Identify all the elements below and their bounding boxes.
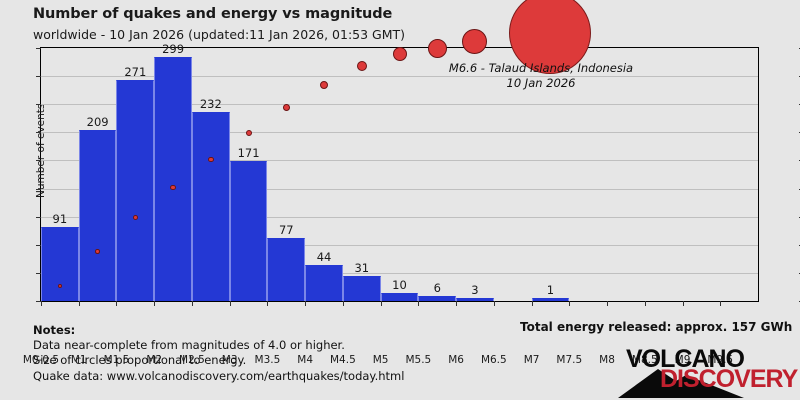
y-axis-tick-left	[36, 76, 41, 77]
bar[interactable]	[192, 112, 230, 301]
x-axis-tick	[456, 301, 457, 306]
logo-word-discovery: DISCOVERY	[660, 365, 797, 394]
energy-circle[interactable]	[462, 29, 487, 54]
energy-circle[interactable]	[246, 130, 252, 136]
y-axis-tick-left	[36, 189, 41, 190]
notes-heading: Notes:	[33, 323, 404, 338]
annotation-line-1: M6.6 - Talaud Islands, Indonesia	[401, 61, 681, 76]
annotation-line-2: 10 Jan 2026	[401, 76, 681, 91]
x-axis-tick	[607, 301, 608, 306]
x-axis-tick	[381, 301, 382, 306]
bar[interactable]	[116, 80, 154, 301]
x-axis-tick	[645, 301, 646, 306]
energy-circle[interactable]	[208, 157, 214, 163]
bar-value-label: 1	[524, 283, 578, 297]
notes-block: Notes: Data near-complete from magnitude…	[33, 323, 404, 384]
y-axis-tick-left	[36, 132, 41, 133]
bar-value-label: 232	[184, 97, 238, 111]
bar-value-label: 77	[259, 223, 313, 237]
energy-circle[interactable]	[357, 61, 367, 71]
energy-circle[interactable]	[58, 284, 62, 288]
x-axis-tick	[305, 301, 306, 306]
chart-title: Number of quakes and energy vs magnitude	[33, 6, 392, 22]
bar[interactable]	[79, 130, 117, 301]
x-axis-tick	[418, 301, 419, 306]
x-axis-tick	[192, 301, 193, 306]
total-energy-label: Total energy released: approx. 157 GWh	[520, 320, 792, 334]
plot-area: Number of events 1 TWh100 GWh10 GWh1 GWh…	[40, 47, 759, 302]
notes-line-2: Size of circles proportional to energy.	[33, 353, 404, 368]
bar[interactable]	[267, 238, 305, 301]
x-axis-tick	[683, 301, 684, 306]
energy-circle[interactable]	[393, 47, 407, 61]
y-axis-tick-left	[36, 48, 41, 49]
bar[interactable]	[41, 227, 79, 301]
bar-value-label: 299	[146, 42, 200, 56]
x-axis-tick	[569, 301, 570, 306]
bar-value-label: 171	[222, 146, 276, 160]
x-axis-tick	[267, 301, 268, 306]
bar-value-label: 3	[448, 283, 502, 297]
x-axis-tick	[154, 301, 155, 306]
x-axis-tick	[116, 301, 117, 306]
energy-circle[interactable]	[320, 81, 328, 89]
y-axis-tick-left	[36, 160, 41, 161]
bar[interactable]	[532, 298, 570, 301]
notes-line-1: Data near-complete from magnitudes of 4.…	[33, 338, 404, 353]
x-axis-tick	[532, 301, 533, 306]
notes-line-3[interactable]: Quake data: www.volcanodiscovery.com/ear…	[33, 369, 404, 384]
big-quake-annotation: M6.6 - Talaud Islands, Indonesia10 Jan 2…	[401, 61, 681, 91]
energy-circle[interactable]	[170, 185, 175, 190]
y-axis-title: Number of events	[35, 104, 47, 198]
energy-circle[interactable]	[95, 249, 99, 253]
volcano-discovery-logo: VOLCANO DISCOVERY	[598, 345, 770, 393]
x-axis-tick	[720, 301, 721, 306]
energy-circle[interactable]	[428, 39, 447, 58]
x-axis-tick	[494, 301, 495, 306]
y-axis-tick-left	[36, 104, 41, 105]
energy-circle[interactable]	[133, 215, 138, 220]
x-axis-tick	[41, 301, 42, 306]
x-axis-tick	[79, 301, 80, 306]
bar-value-label: 31	[335, 261, 389, 275]
bar[interactable]	[456, 298, 494, 301]
chart-root: Number of quakes and energy vs magnitude…	[0, 0, 800, 400]
bar[interactable]	[154, 57, 192, 301]
energy-circle[interactable]	[283, 104, 290, 111]
x-axis-tick	[343, 301, 344, 306]
chart-subtitle: worldwide - 10 Jan 2026 (updated:11 Jan …	[33, 27, 405, 42]
x-axis-tick	[230, 301, 231, 306]
